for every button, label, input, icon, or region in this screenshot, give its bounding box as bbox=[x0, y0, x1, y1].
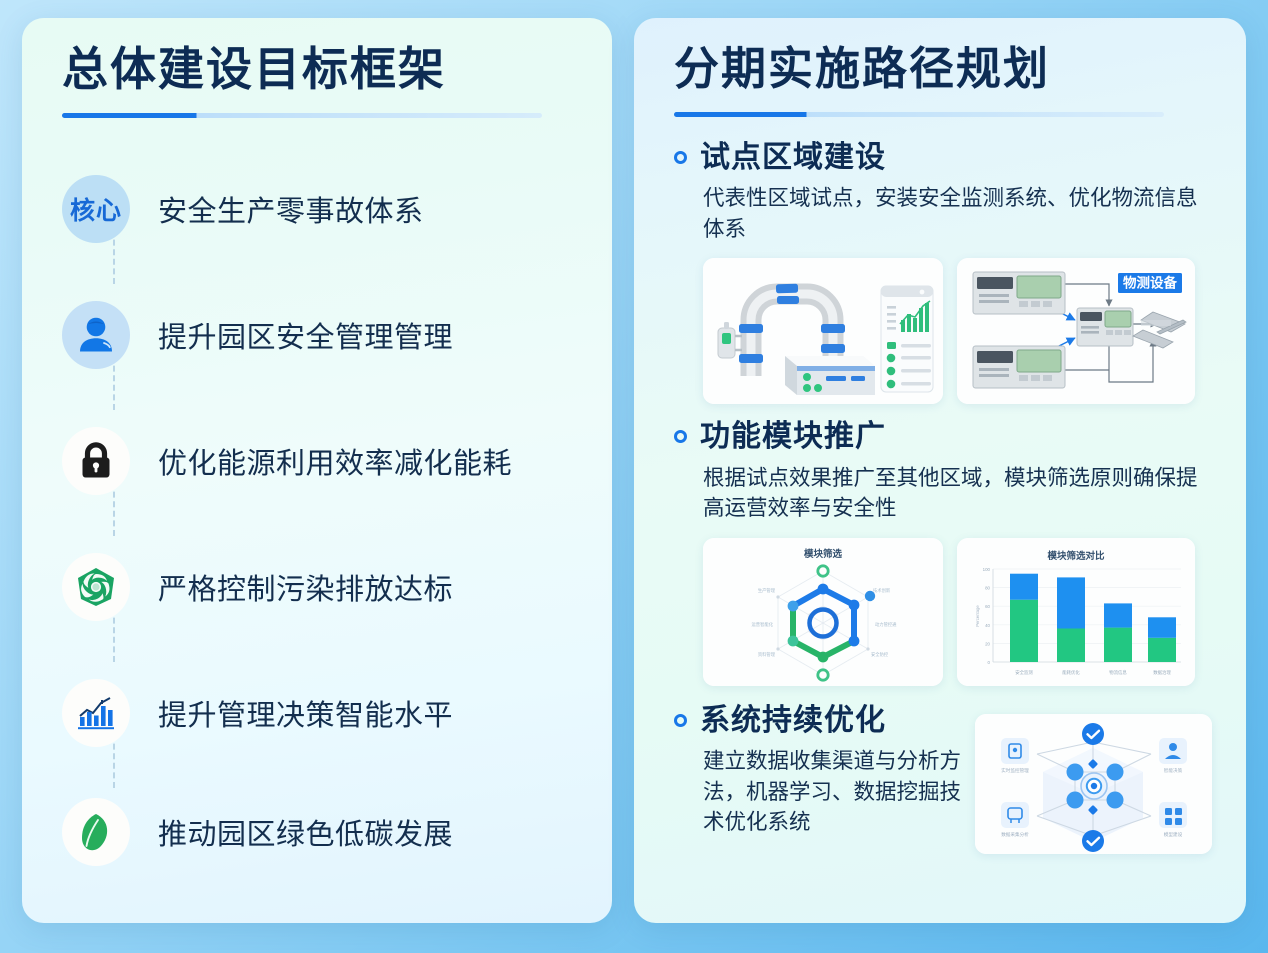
phase-section-title: 功能模块推广 bbox=[700, 418, 886, 456]
node-label: 实时监控管理 bbox=[1001, 767, 1029, 774]
node-label: 数据采集分析 bbox=[1001, 831, 1029, 838]
instrument-network-diagram[interactable]: 物测设备 bbox=[957, 258, 1195, 404]
x-tick: 安全监测 bbox=[1015, 669, 1033, 676]
goal-item-label: 安全生产零事故体系 bbox=[158, 188, 424, 230]
pipeline-equipment-illustration[interactable] bbox=[703, 258, 943, 404]
media-row: 模块筛选 bbox=[703, 538, 1212, 686]
goal-item-label: 提升园区安全管理管理 bbox=[158, 314, 453, 356]
bar-chart-module-comparison[interactable]: 模块筛选对比 bbox=[957, 538, 1195, 686]
phase-section-desc: 根据试点效果推广至其他区域，模块筛选原则确保提高运营效率与安全性 bbox=[703, 463, 1212, 524]
system-network-hub-diagram[interactable]: 实时监控管理 数据采集分析 bbox=[975, 714, 1212, 854]
y-tick: 60 bbox=[985, 604, 990, 609]
bullet-ring-icon bbox=[674, 430, 687, 443]
radar-axis-label: 安全防控 bbox=[871, 651, 889, 658]
y-axis-label: Percentage bbox=[975, 604, 980, 626]
phase-section-desc: 代表性区域试点，安装安全监测系统、优化物流信息体系 bbox=[703, 183, 1212, 244]
goal-item[interactable]: 严格控制污染排放达标 bbox=[62, 524, 578, 650]
bullet-ring-icon bbox=[674, 714, 687, 727]
left-panel-title: 总体建设目标框架 bbox=[62, 44, 578, 95]
radar-axis-label: 技术创新 bbox=[873, 587, 891, 594]
media-row: 物测设备 bbox=[703, 258, 1212, 404]
x-tick: 能耗优化 bbox=[1062, 669, 1080, 676]
lock-icon bbox=[62, 427, 130, 495]
goal-item-label: 严格控制污染排放达标 bbox=[158, 566, 453, 608]
goal-item-label: 推动园区绿色低碳发展 bbox=[158, 811, 453, 853]
goal-list: 核心 安全生产零事故体系 提升园区安全管理管 bbox=[62, 146, 578, 888]
phase-section-title: 试点区域建设 bbox=[700, 139, 886, 177]
phase-section: 系统持续优化 建立数据收集渠道与分析方法，机器学习、数据挖掘技术优化系统 bbox=[674, 702, 1212, 854]
goal-item-label: 提升管理决策智能水平 bbox=[158, 692, 453, 734]
goal-item[interactable]: 推动园区绿色低碳发展 bbox=[62, 776, 578, 888]
goal-item[interactable]: 提升管理决策智能水平 bbox=[62, 650, 578, 776]
x-tick: 物流信息 bbox=[1109, 669, 1127, 676]
left-title-underline bbox=[62, 113, 542, 118]
right-panel-card: 分期实施路径规划 试点区域建设 代表性区域试点，安装安全监测系统、优化物流信息体… bbox=[634, 18, 1246, 923]
radar-axis-label: 资料管理 bbox=[758, 651, 776, 658]
aperture-leaf-icon bbox=[62, 553, 130, 621]
y-tick: 20 bbox=[985, 641, 990, 646]
right-panel-title: 分期实施路径规划 bbox=[674, 44, 1212, 94]
radar-chart-title: 模块筛选 bbox=[804, 548, 843, 560]
x-tick: 数据治理 bbox=[1153, 669, 1171, 676]
bar-chart-title: 模块筛选对比 bbox=[1047, 550, 1105, 562]
goal-item[interactable]: 优化能源利用效率减化能耗 bbox=[62, 398, 578, 524]
y-tick: 100 bbox=[983, 567, 991, 572]
goal-item[interactable]: 提升园区安全管理管理 bbox=[62, 272, 578, 398]
radar-axis-label: 运营智能化 bbox=[752, 621, 774, 628]
radar-axis-label: 动力管控通 bbox=[875, 621, 897, 628]
core-badge-text: 核心 bbox=[70, 191, 122, 227]
radar-chart-module-screening[interactable]: 模块筛选 bbox=[703, 538, 943, 686]
slide-stage: 总体建设目标框架 核心 安全生产零事故体系 bbox=[0, 0, 1268, 953]
phase-section-desc: 建立数据收集渠道与分析方法，机器学习、数据挖掘技术优化系统 bbox=[703, 746, 981, 838]
phase-section: 功能模块推广 根据试点效果推广至其他区域，模块筛选原则确保提高运营效率与安全性 … bbox=[674, 418, 1212, 686]
right-title-underline bbox=[674, 112, 1164, 117]
node-label: 智能决策 bbox=[1164, 767, 1183, 774]
leaf-icon bbox=[62, 798, 130, 866]
phase-section-list: 试点区域建设 代表性区域试点，安装安全监测系统、优化物流信息体系 bbox=[674, 139, 1212, 854]
radar-axis-label: 生产管理 bbox=[758, 587, 776, 594]
phase-section-title: 系统持续优化 bbox=[700, 702, 886, 740]
y-tick: 40 bbox=[985, 622, 990, 627]
bar-chart-icon bbox=[62, 679, 130, 747]
goal-item[interactable]: 核心 安全生产零事故体系 bbox=[62, 146, 578, 272]
instrument-tag-label: 物测设备 bbox=[1123, 275, 1177, 291]
bullet-ring-icon bbox=[674, 151, 687, 164]
y-tick: 80 bbox=[985, 585, 990, 590]
left-panel-card: 总体建设目标框架 核心 安全生产零事故体系 bbox=[22, 18, 612, 923]
phase-section: 试点区域建设 代表性区域试点，安装安全监测系统、优化物流信息体系 bbox=[674, 139, 1212, 405]
node-label: 模型建设 bbox=[1164, 831, 1183, 838]
core-badge-icon: 核心 bbox=[62, 175, 130, 243]
user-avatar-icon bbox=[62, 301, 130, 369]
goal-item-label: 优化能源利用效率减化能耗 bbox=[158, 440, 512, 482]
